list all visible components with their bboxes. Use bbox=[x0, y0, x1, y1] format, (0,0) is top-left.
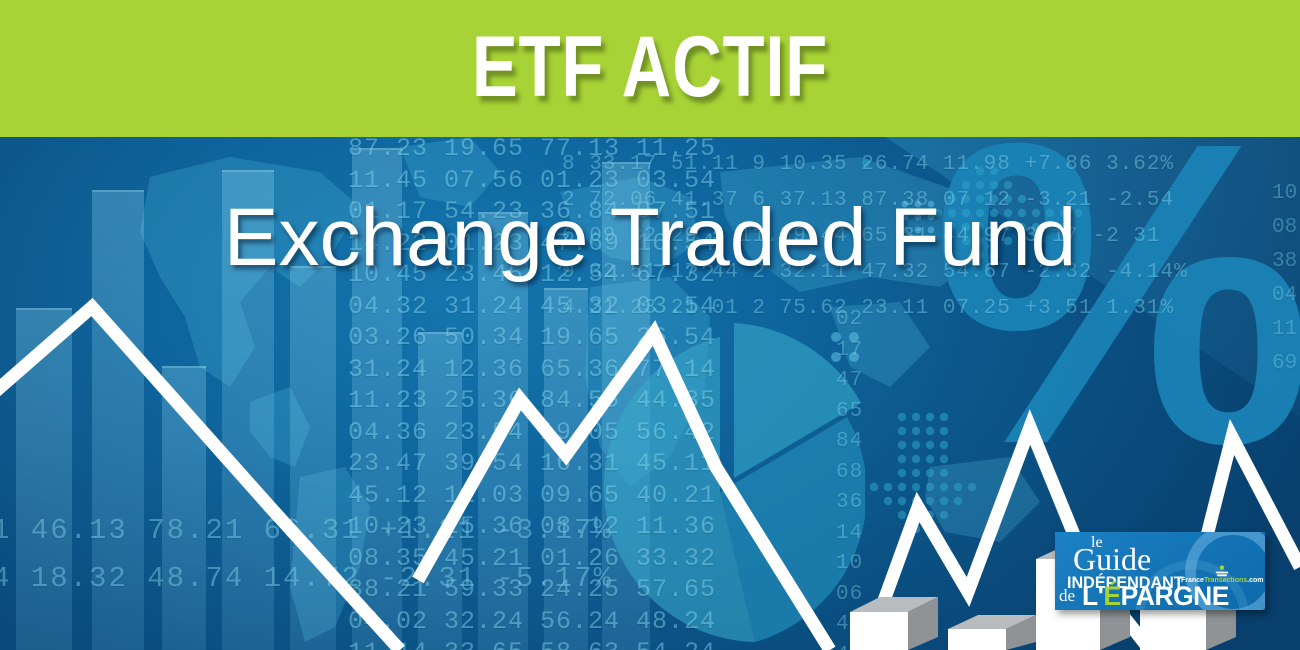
logo-text-epargne: L'ÉPARGNE bbox=[1082, 583, 1229, 610]
francetransactions-mark-icon bbox=[1215, 565, 1229, 577]
ticker-rows-bottom: 1 46.13 78.21 66.31 +1.21 -3.17% 4 18.32… bbox=[0, 507, 613, 603]
logo-epargne-rest: PARGNE bbox=[1121, 581, 1229, 610]
bg-bar-8 bbox=[478, 212, 528, 650]
logo-guide-independant-epargne[interactable]: le Guide INDÉPENDANT de L'ÉPARGNE France… bbox=[1055, 532, 1265, 610]
arrow-down-icon bbox=[868, 407, 1048, 627]
arrow-up-right-icon bbox=[860, 157, 1090, 307]
page-title: ETF ACTIF bbox=[130, 15, 1170, 119]
ticker-column-edge: 10 08 38 04 11 69 bbox=[1272, 177, 1297, 381]
logo-text-de: de bbox=[1059, 586, 1075, 606]
logo-site-suffix: .com bbox=[1247, 577, 1263, 584]
logo-epargne-lead: L' bbox=[1082, 581, 1103, 610]
bg-bar-5 bbox=[290, 266, 336, 650]
bg-bar-4 bbox=[222, 170, 274, 650]
logo-site-url: FranceTransactions.com bbox=[1181, 577, 1264, 584]
percent-symbol: % bbox=[932, 137, 1300, 509]
banner-root: ETF ACTIF bbox=[0, 0, 1300, 650]
logo-site-prefix: France bbox=[1181, 577, 1204, 584]
logo-text-guide: Guide bbox=[1073, 543, 1151, 575]
pie-chart-graphic bbox=[575, 292, 865, 650]
bg-bar-1 bbox=[16, 308, 72, 650]
bg-bar-2 bbox=[92, 190, 144, 650]
bg-bar-7 bbox=[418, 332, 462, 650]
logo-site-mid: Transactions bbox=[1204, 577, 1247, 584]
header-band: ETF ACTIF bbox=[0, 0, 1300, 137]
dot-grid-icon bbox=[898, 197, 944, 241]
logo-epargne-accent: É bbox=[1103, 581, 1120, 610]
bg-bar-6 bbox=[352, 148, 402, 650]
bar-3d-b bbox=[948, 615, 1036, 650]
bg-bar-3 bbox=[162, 366, 206, 650]
